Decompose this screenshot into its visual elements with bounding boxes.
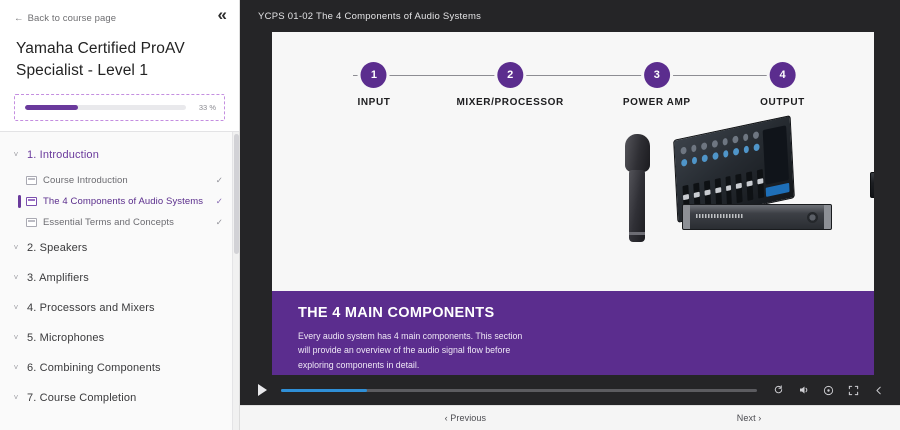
- slide-body: 1INPUT2MIXER/PROCESSOR3POWER AMP4OUTPUT: [272, 32, 874, 291]
- sidebar-section: ˅2. Speakers: [0, 233, 239, 263]
- sidebar-section-label: 6. Combining Components: [27, 362, 161, 374]
- signal-flow-stepper: 1INPUT2MIXER/PROCESSOR3POWER AMP4OUTPUT: [311, 62, 835, 88]
- flow-step-number: 4: [770, 62, 796, 88]
- next-button[interactable]: Next ›: [737, 413, 762, 423]
- active-lesson-indicator: [18, 195, 21, 208]
- mixer-display: [766, 183, 790, 197]
- course-player-page: ←Back to course page « Yamaha Certified …: [0, 0, 900, 430]
- rack-front-panel: [682, 204, 832, 230]
- seek-fill: [281, 389, 367, 392]
- progress-track: [25, 105, 186, 110]
- completed-check-icon: ✓: [216, 217, 223, 228]
- microphone-image: [624, 134, 650, 242]
- completed-check-icon: ✓: [216, 175, 223, 186]
- play-button[interactable]: [258, 384, 267, 396]
- fullscreen-icon[interactable]: [846, 385, 861, 396]
- sidebar-section-header[interactable]: ˅7. Course Completion: [0, 383, 239, 413]
- slide-banner: THE 4 MAIN COMPONENTS Every audio system…: [272, 291, 874, 375]
- sidebar-section: ˅5. Microphones: [0, 323, 239, 353]
- back-link-label: Back to course page: [28, 13, 117, 24]
- flow-step-label: MIXER/PROCESSOR: [456, 97, 563, 108]
- sidebar-section: ˅3. Amplifiers: [0, 263, 239, 293]
- sidebar-section-label: 3. Amplifiers: [27, 272, 89, 284]
- rack-ear-left: [683, 205, 690, 229]
- chevron-down-icon: ˅: [12, 274, 20, 282]
- flow-step-number: 1: [361, 62, 387, 88]
- seek-bar[interactable]: [281, 389, 757, 392]
- chevron-down-icon: ˅: [12, 304, 20, 312]
- course-progress: 33 %: [14, 94, 225, 121]
- flow-step-label: POWER AMP: [623, 97, 691, 108]
- slide-stage: 1INPUT2MIXER/PROCESSOR3POWER AMP4OUTPUT: [240, 32, 900, 375]
- flow-step-label: INPUT: [357, 97, 390, 108]
- sidebar-section-label: 5. Microphones: [27, 332, 104, 344]
- sidebar-section-header[interactable]: ˅3. Amplifiers: [0, 263, 239, 293]
- sidebar-section-label: 1. Introduction: [27, 149, 99, 161]
- sidebar-lesson-label: Course Introduction: [43, 175, 210, 186]
- flow-step-number: 2: [497, 62, 523, 88]
- progress-percent-label: 33 %: [194, 103, 216, 112]
- flow-step-number: 3: [644, 62, 670, 88]
- rack-ear-right: [824, 205, 831, 229]
- sidebar-header: ←Back to course page « Yamaha Certified …: [0, 0, 239, 131]
- chevron-down-icon: ˅: [12, 364, 20, 372]
- slide-icon: [26, 176, 37, 185]
- flow-step: 3POWER AMP: [623, 62, 691, 108]
- previous-button[interactable]: ‹ Previous: [445, 413, 487, 423]
- chevron-down-icon: ˅: [12, 334, 20, 342]
- banner-heading: THE 4 MAIN COMPONENTS: [298, 305, 874, 321]
- sidebar-section: ˅4. Processors and Mixers: [0, 293, 239, 323]
- sidebar-scrollbar-thumb[interactable]: [234, 134, 239, 254]
- volume-icon[interactable]: [796, 384, 811, 396]
- microphone-head: [625, 134, 650, 172]
- sidebar-section: ˅6. Combining Components: [0, 353, 239, 383]
- video-player: YCPS 01-02 The 4 Components of Audio Sys…: [240, 0, 900, 405]
- sidebar-lesson-item[interactable]: Essential Terms and Concepts✓: [0, 212, 239, 233]
- sidebar-lesson-item[interactable]: Course Introduction✓: [0, 170, 239, 191]
- sidebar-section-list: ˅1. IntroductionCourse Introduction✓The …: [0, 132, 239, 430]
- sidebar-lesson-label: Essential Terms and Concepts: [43, 217, 210, 228]
- mixer-master-section: [763, 125, 789, 185]
- course-title: Yamaha Certified ProAV Specialist - Leve…: [14, 38, 225, 82]
- chevron-left-icon[interactable]: [871, 385, 886, 396]
- sidebar-section-header[interactable]: ˅1. Introduction: [0, 140, 239, 170]
- lesson-title: YCPS 01-02 The 4 Components of Audio Sys…: [240, 0, 900, 32]
- sidebar-section-header[interactable]: ˅6. Combining Components: [0, 353, 239, 383]
- course-sidebar: ←Back to course page « Yamaha Certified …: [0, 0, 240, 430]
- sidebar-scrollbar[interactable]: [232, 132, 239, 430]
- player-controls: [240, 375, 900, 405]
- sidebar-section: ˅1. IntroductionCourse Introduction✓The …: [0, 140, 239, 233]
- progress-fill: [25, 105, 78, 110]
- slide: 1INPUT2MIXER/PROCESSOR3POWER AMP4OUTPUT: [272, 32, 874, 375]
- flow-step: 2MIXER/PROCESSOR: [456, 62, 563, 108]
- sidebar-section-header[interactable]: ˅4. Processors and Mixers: [0, 293, 239, 323]
- sidebar-lesson-label: The 4 Components of Audio Systems: [43, 196, 210, 207]
- amplifier-front-panel: [870, 172, 874, 198]
- replay-icon[interactable]: [771, 385, 786, 396]
- lesson-navigation: ‹ Previous Next ›: [240, 405, 900, 430]
- sidebar-lesson-item[interactable]: The 4 Components of Audio Systems✓: [0, 191, 239, 212]
- sidebar-section-label: 7. Course Completion: [27, 392, 136, 404]
- completed-check-icon: ✓: [216, 196, 223, 207]
- back-to-course-link[interactable]: ←Back to course page: [14, 13, 116, 24]
- microphone-ring: [629, 232, 645, 235]
- sidebar-collapse-icon[interactable]: «: [218, 6, 227, 23]
- power-amplifier-image: [870, 172, 874, 198]
- slide-icon: [26, 218, 37, 227]
- sidebar-section-header[interactable]: ˅5. Microphones: [0, 323, 239, 353]
- sidebar-section-label: 2. Speakers: [27, 242, 87, 254]
- back-arrow-icon: ←: [14, 13, 24, 24]
- chevron-down-icon: ˅: [12, 244, 20, 252]
- banner-body: Every audio system has 4 main components…: [298, 329, 533, 372]
- rack-processor-image: [682, 204, 832, 230]
- main-content: YCPS 01-02 The 4 Components of Audio Sys…: [240, 0, 900, 430]
- sidebar-section-header[interactable]: ˅2. Speakers: [0, 233, 239, 263]
- flow-step: 1INPUT: [357, 62, 390, 108]
- flow-step: 4OUTPUT: [760, 62, 805, 108]
- settings-icon[interactable]: [821, 385, 836, 396]
- flow-step-label: OUTPUT: [760, 97, 805, 108]
- chevron-down-icon: ˅: [12, 151, 20, 159]
- sidebar-section-label: 4. Processors and Mixers: [27, 302, 155, 314]
- chevron-down-icon: ˅: [12, 394, 20, 402]
- equipment-row: [272, 112, 874, 283]
- stepper-line: [353, 75, 793, 76]
- slide-icon: [26, 197, 37, 206]
- sidebar-section: ˅7. Course Completion: [0, 383, 239, 413]
